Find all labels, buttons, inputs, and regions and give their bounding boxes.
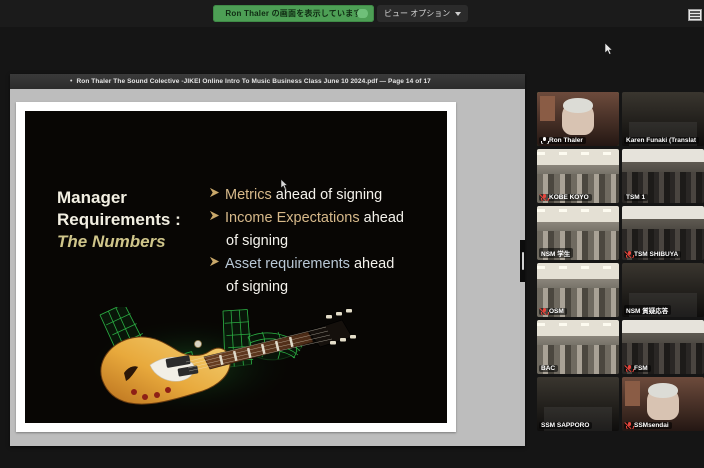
slide-bullet-list: Metrics ahead of signingIncome Expectati… — [209, 185, 434, 300]
participant-tile[interactable]: BAC — [537, 320, 619, 374]
electric-guitar-wireframe-illustration — [80, 307, 380, 419]
participant-name-badge: NSM 質疑応答 — [624, 305, 671, 315]
participant-name-label: NSM 質疑応答 — [626, 305, 668, 315]
participant-name-badge: NSM 学生 — [539, 248, 573, 258]
slide-page: Manager Requirements : The Numbers Metri… — [16, 102, 456, 432]
participant-name-label: KOBE KOYO — [549, 194, 589, 201]
arrow-bullet-icon — [209, 256, 220, 267]
participant-name-label: OSM — [549, 308, 564, 315]
titlebar-bullet: • — [70, 78, 72, 85]
participant-name-badge: BAC — [539, 365, 558, 372]
window-icon-bar — [690, 14, 700, 16]
slide-bullet-text: Asset requirements ahead — [225, 254, 434, 274]
document-title: Ron Thaler The Sound Colective -JIKEI On… — [76, 78, 430, 85]
arrow-bullet-icon — [209, 187, 220, 198]
slide-bullet-keyword: Asset requirements — [225, 256, 350, 272]
slide-heading-line3: The Numbers — [57, 231, 207, 254]
mic-muted-icon — [626, 365, 632, 372]
participant-name-badge: TSM SHIBUYA — [624, 251, 681, 258]
cursor-top-right — [605, 43, 613, 55]
cursor-on-slide — [281, 179, 288, 190]
slide-heading-line2: Requirements : — [57, 209, 207, 231]
participant-tile[interactable]: TSM 1 — [622, 149, 704, 203]
document-titlebar: • Ron Thaler The Sound Colective -JIKEI … — [10, 74, 525, 89]
screen-share-banner-bar: Ron Thaler の画面を表示しています ビュー オプション — [0, 0, 704, 27]
mic-muted-icon — [541, 308, 547, 315]
panel-resize-handle[interactable] — [520, 240, 525, 282]
slide-bullet-continuation: of signing — [226, 277, 434, 297]
window-icon-bar — [690, 17, 700, 19]
participant-name-label: FSM — [634, 365, 648, 372]
slide-bullet-item: Asset requirements ahead — [209, 254, 434, 274]
participant-name-label: Karen Funaki (Translat — [626, 137, 696, 144]
participant-name-badge: TSM 1 — [624, 194, 648, 201]
screen-share-status-label: Ron Thaler の画面を表示しています — [225, 8, 361, 19]
view-options-dropdown[interactable]: ビュー オプション — [377, 5, 468, 22]
participant-tile[interactable]: OSM — [537, 263, 619, 317]
participant-filmstrip: Ron ThalerKaren Funaki (TranslatKOBE KOY… — [537, 92, 704, 422]
mic-on-icon — [541, 137, 547, 144]
mic-muted-icon — [626, 251, 632, 258]
participant-name-badge: Ron Thaler — [539, 137, 586, 144]
participant-name-label: SSM SAPPORO — [541, 422, 589, 429]
mic-muted-icon — [626, 422, 632, 429]
mic-muted-icon — [541, 194, 547, 201]
slide-bullet-keyword: Metrics — [225, 187, 272, 203]
screen-share-status-banner[interactable]: Ron Thaler の画面を表示しています — [213, 5, 374, 22]
participant-name-label: TSM 1 — [626, 194, 645, 201]
participant-name-label: SSMsendai — [634, 422, 669, 429]
participant-tile[interactable]: KOBE KOYO — [537, 149, 619, 203]
slide-bullet-text: Metrics ahead of signing — [225, 185, 434, 205]
participant-name-badge: SSM SAPPORO — [539, 422, 592, 429]
participant-tile[interactable]: SSMsendai — [622, 377, 704, 431]
participant-tile[interactable]: Karen Funaki (Translat — [622, 92, 704, 146]
participant-tile[interactable]: SSM SAPPORO — [537, 377, 619, 431]
slide-bullet-text: Income Expectations ahead — [225, 208, 434, 228]
slide-bullet-continuation: of signing — [226, 231, 434, 251]
screen-share-bubble-icon — [357, 9, 368, 18]
participant-tile[interactable]: Ron Thaler — [537, 92, 619, 146]
window-icon[interactable] — [688, 9, 702, 21]
slide-heading: Manager Requirements : The Numbers — [57, 187, 207, 254]
participant-name-badge: OSM — [539, 308, 567, 315]
arrow-bullet-icon — [209, 210, 220, 221]
participant-name-label: Ron Thaler — [549, 137, 583, 144]
window-icon-bar — [690, 11, 700, 13]
participant-tile[interactable]: NSM 学生 — [537, 206, 619, 260]
document-viewport: Manager Requirements : The Numbers Metri… — [10, 89, 525, 446]
participant-name-label: BAC — [541, 365, 555, 372]
slide-heading-line1: Manager — [57, 187, 207, 209]
participant-name-badge: FSM — [624, 365, 651, 372]
participant-tile[interactable]: TSM SHIBUYA — [622, 206, 704, 260]
slide-bullet-item: Metrics ahead of signing — [209, 185, 434, 205]
view-options-label: ビュー オプション — [384, 8, 450, 19]
slide-bullet-keyword: Income Expectations — [225, 210, 360, 226]
participant-name-badge: KOBE KOYO — [539, 194, 592, 201]
slide-content: Manager Requirements : The Numbers Metri… — [25, 111, 447, 423]
participant-name-label: TSM SHIBUYA — [634, 251, 678, 258]
participant-tile[interactable]: FSM — [622, 320, 704, 374]
slide-bullet-item: Income Expectations ahead — [209, 208, 434, 228]
participant-name-badge: SSMsendai — [624, 422, 672, 429]
participant-name-label: NSM 学生 — [541, 248, 570, 258]
participant-tile[interactable]: NSM 質疑応答 — [622, 263, 704, 317]
resize-grip — [522, 252, 524, 270]
chevron-down-icon — [455, 12, 461, 16]
participant-name-badge: Karen Funaki (Translat — [624, 137, 699, 144]
shared-screen-window: • Ron Thaler The Sound Colective -JIKEI … — [10, 74, 525, 446]
